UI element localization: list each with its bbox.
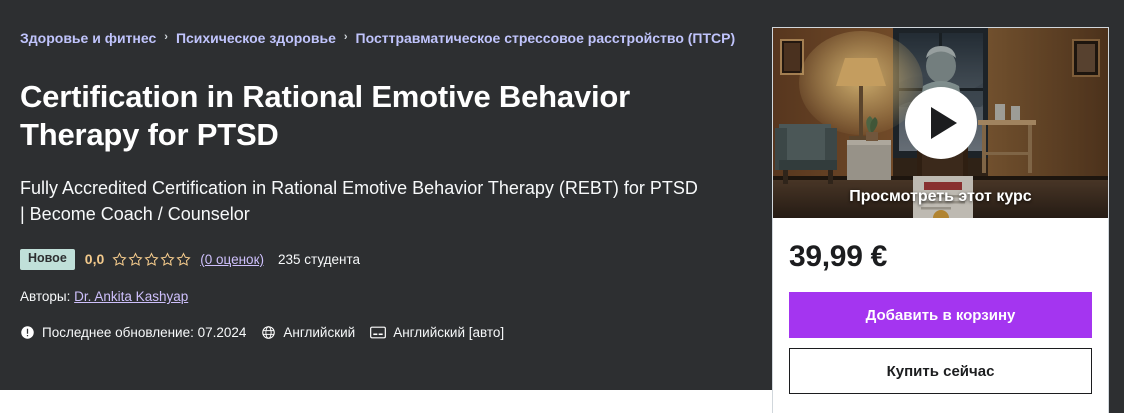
status-badge-new: Новое (20, 249, 75, 270)
rating-value: 0,0 (85, 251, 104, 267)
breadcrumb-separator-icon: › (344, 32, 348, 43)
play-icon[interactable] (905, 87, 977, 159)
globe-icon (261, 325, 276, 340)
right-dark-gutter (1109, 0, 1124, 413)
star-rating (112, 252, 191, 267)
closed-caption-icon (370, 326, 386, 339)
info-circle-icon (20, 325, 35, 340)
course-preview-thumbnail[interactable]: Просмотреть этот курс (773, 28, 1108, 218)
language-text: Английский (283, 325, 355, 340)
enrolled-students-count: 235 студента (278, 252, 360, 267)
star-outline-icon (160, 252, 175, 267)
authors-label: Авторы: (20, 289, 70, 304)
course-meta-row: Последнее обновление: 07.2024 Английский… (20, 325, 504, 340)
course-rating-row: Новое 0,0 (0 оценок) 235 студента (20, 249, 360, 270)
breadcrumb-item-category[interactable]: Здоровье и фитнес (20, 30, 156, 46)
course-authors: Авторы: Dr. Ankita Kashyap (20, 289, 188, 304)
last-updated-item: Последнее обновление: 07.2024 (20, 325, 246, 340)
ratings-count-link[interactable]: (0 оценок) (200, 252, 264, 267)
author-link[interactable]: Dr. Ankita Kashyap (74, 289, 188, 304)
breadcrumb-item-topic[interactable]: Посттравматическое стрессовое расстройст… (356, 30, 736, 46)
play-triangle (931, 107, 957, 139)
star-outline-icon (128, 252, 143, 267)
course-hero-content: Здоровье и фитнес › Психическое здоровье… (20, 0, 750, 390)
purchase-card: Просмотреть этот курс 39,99 € Добавить в… (772, 27, 1109, 413)
captions-text: Английский [авто] (393, 325, 504, 340)
buy-now-button[interactable]: Купить сейчас (789, 348, 1092, 394)
last-updated-text: Последнее обновление: 07.2024 (42, 325, 246, 340)
star-outline-icon (112, 252, 127, 267)
language-item: Английский (261, 325, 355, 340)
course-landing-page: Здоровье и фитнес › Психическое здоровье… (0, 0, 1124, 413)
breadcrumb-item-subcategory[interactable]: Психическое здоровье (176, 30, 336, 46)
breadcrumb: Здоровье и фитнес › Психическое здоровье… (20, 30, 735, 46)
course-price: 39,99 € (789, 240, 1092, 274)
preview-course-label: Просмотреть этот курс (773, 188, 1108, 206)
course-title: Certification in Rational Emotive Behavi… (20, 78, 710, 154)
star-outline-icon (144, 252, 159, 267)
star-outline-icon (176, 252, 191, 267)
breadcrumb-separator-icon: › (164, 32, 168, 43)
purchase-card-body: 39,99 € Добавить в корзину Купить сейчас (773, 218, 1108, 394)
course-headline: Fully Accredited Certification in Ration… (20, 176, 700, 227)
add-to-cart-button[interactable]: Добавить в корзину (789, 292, 1092, 338)
captions-item: Английский [авто] (370, 325, 504, 340)
